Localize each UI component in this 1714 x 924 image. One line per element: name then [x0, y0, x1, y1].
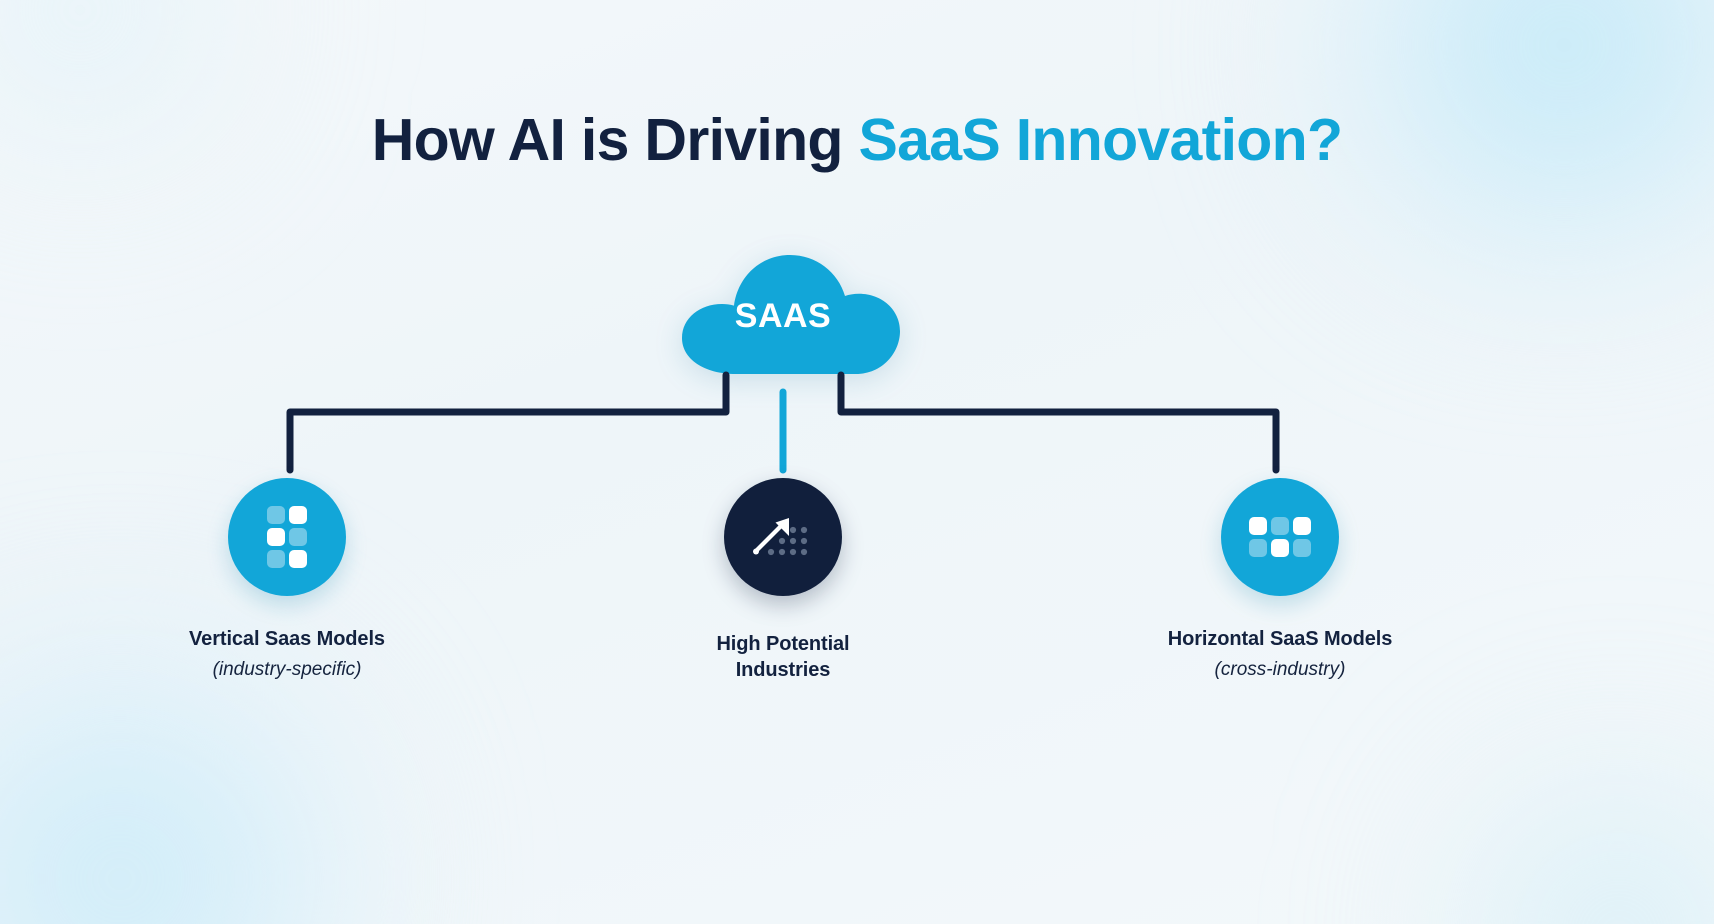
- node-title: Horizontal SaaS Models: [1150, 627, 1410, 653]
- node-icon-circle-right[interactable]: [1221, 478, 1339, 596]
- node-icon-circle-left[interactable]: [228, 478, 346, 596]
- grid-cell: [1293, 517, 1311, 535]
- infographic-canvas: How AI is Driving SaaS Innovation? SAAS: [0, 0, 1714, 924]
- node-title: High Potential Industries: [653, 632, 913, 683]
- grid-cell: [267, 528, 285, 546]
- node-icon-circle-center[interactable]: [724, 478, 842, 596]
- grid-cell: [267, 506, 285, 524]
- title-accent: SaaS Innovation?: [858, 107, 1342, 173]
- grid-cell: [1293, 539, 1311, 557]
- node-horizontal-saas[interactable]: Horizontal SaaS Models (cross-industry): [1150, 478, 1410, 682]
- grid-blocks-icon: [267, 506, 307, 568]
- node-high-potential[interactable]: High Potential Industries: [653, 478, 913, 683]
- trending-arrow-dots-icon: [751, 509, 815, 565]
- title-primary: How AI is Driving: [372, 107, 843, 173]
- node-subtitle: (industry-specific): [157, 658, 417, 682]
- grid-cell: [1249, 539, 1267, 557]
- connector-left: [290, 375, 726, 470]
- cloud-label: SAAS: [664, 297, 902, 336]
- node-subtitle: (cross-industry): [1150, 658, 1410, 682]
- saas-cloud-node[interactable]: SAAS: [664, 243, 902, 374]
- page-title: How AI is Driving SaaS Innovation?: [0, 108, 1714, 173]
- grid-cell: [267, 550, 285, 568]
- node-title-line1: High Potential: [716, 633, 849, 655]
- node-vertical-saas[interactable]: Vertical Saas Models (industry-specific): [157, 478, 417, 682]
- grid-cell: [289, 528, 307, 546]
- grid-cell: [289, 506, 307, 524]
- grid-cell: [1271, 539, 1289, 557]
- grid-blocks-icon: [1249, 517, 1311, 557]
- grid-cell: [1249, 517, 1267, 535]
- connector-right: [841, 375, 1276, 470]
- node-title-line2: Industries: [736, 659, 831, 681]
- grid-cell: [1271, 517, 1289, 535]
- node-title: Vertical Saas Models: [157, 627, 417, 653]
- grid-cell: [289, 550, 307, 568]
